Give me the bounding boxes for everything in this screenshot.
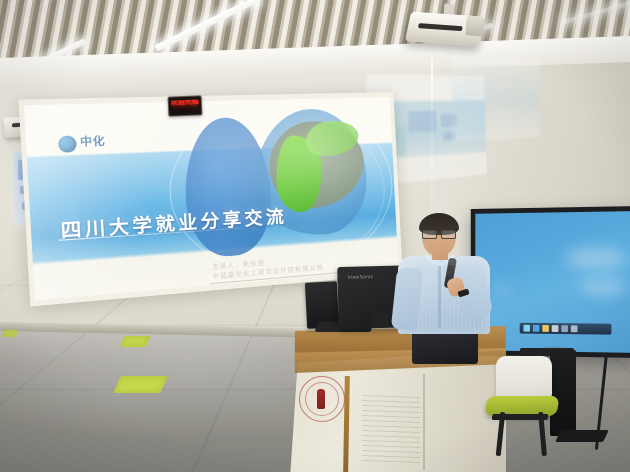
logo-text: 中化: [80, 137, 106, 149]
desktop-wallpaper-cloud: [579, 279, 628, 295]
organization-logo: 中化: [58, 131, 126, 156]
media-icon[interactable]: [561, 325, 568, 332]
desktop-wallpaper-cloud: [492, 285, 512, 295]
panel-taskbar[interactable]: [520, 323, 612, 335]
floor-accent-tile: [113, 376, 168, 393]
speaker-shirt-placket: [438, 266, 441, 328]
stacking-chair: [486, 356, 578, 466]
desktop-wallpaper-cloud: [565, 247, 625, 269]
projector-lens-icon: [465, 15, 484, 36]
speaker: [396, 216, 492, 356]
led-exit-sign: 欢迎光临: [168, 95, 203, 116]
chair-frame: [492, 412, 552, 456]
lecture-hall-scene: 中化 四川大学就业分享交流 主讲人：朱长进 中蓝晨光化工研究设计院有限公司 欢迎…: [0, 0, 630, 472]
browser-icon[interactable]: [533, 325, 540, 332]
floor-accent-tile: [120, 336, 150, 347]
chair-shadow-column: [550, 350, 576, 436]
logo-mark-icon: [58, 135, 77, 152]
chair-backrest: [496, 356, 552, 398]
lectern-vent-slats: [362, 395, 420, 467]
monitor-brand-label: ViewSonic: [347, 274, 373, 281]
glasses-icon: [422, 230, 456, 237]
lectern-panel-seam: [423, 374, 425, 470]
led-sign-text: 欢迎光临: [171, 99, 199, 112]
start-icon[interactable]: [523, 325, 530, 332]
floor-accent-tile: [2, 330, 19, 337]
monitor-stand-hinge: [372, 312, 388, 328]
speaker-trousers: [412, 330, 478, 364]
folder-icon[interactable]: [542, 325, 549, 332]
settings-icon[interactable]: [571, 325, 578, 332]
chair-base-plate: [555, 430, 609, 442]
projection-overspill-secondary: [452, 56, 540, 142]
app-icon[interactable]: [552, 325, 559, 332]
university-crest-icon: [299, 376, 345, 422]
